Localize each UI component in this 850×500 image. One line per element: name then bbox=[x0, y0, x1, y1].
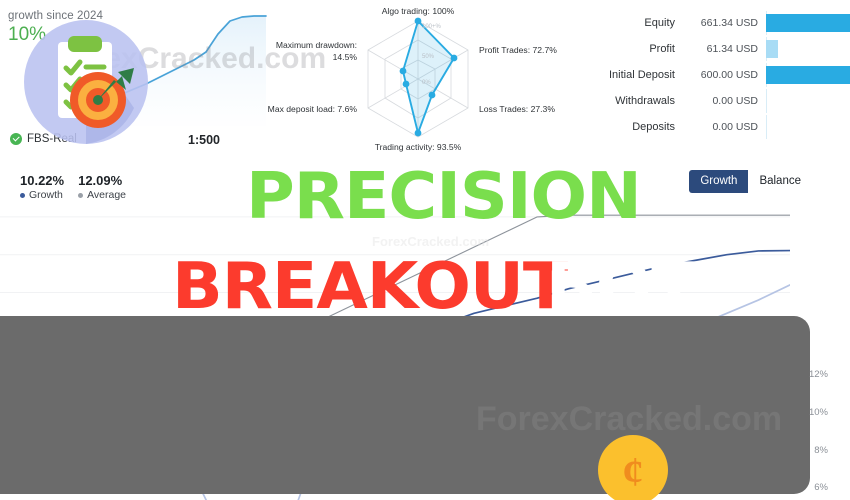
title-overlay-panel bbox=[0, 316, 810, 494]
stat-value-equity: 661.34 USD bbox=[686, 17, 766, 29]
radar-ring-label-2: 0% bbox=[422, 80, 431, 86]
tab-growth[interactable]: Growth bbox=[689, 170, 748, 193]
growth-since-value: 10% bbox=[8, 24, 103, 46]
growth-chart-section: 10.22% Growth 12.09% Average Growth Bala… bbox=[0, 158, 850, 500]
chart-mode-tabs: Growth Balance bbox=[689, 170, 812, 193]
legend-text-growth: Growth bbox=[29, 189, 63, 201]
table-row: Withdrawals 0.00 USD bbox=[590, 88, 845, 114]
growth-since-block: growth since 2024 10% bbox=[8, 10, 103, 46]
legend-item-growth[interactable]: 10.22% Growth bbox=[20, 173, 64, 201]
table-row: Equity 661.34 USD bbox=[590, 10, 845, 36]
chart-legend: 10.22% Growth 12.09% Average bbox=[12, 170, 134, 204]
table-row: Profit 61.34 USD bbox=[590, 36, 845, 62]
radar-axis-label-max-deposit-load: Max deposit load: 7.6% bbox=[268, 104, 358, 114]
y-axis-tick: 10% bbox=[809, 407, 828, 418]
stat-name-profit: Profit bbox=[590, 43, 686, 55]
legend-text-average: Average bbox=[87, 189, 126, 201]
radar-ring-label-0: 100+% bbox=[422, 24, 442, 30]
legend-label-average: Average bbox=[78, 189, 126, 201]
account-summary-section: growth since 2024 10% FBS-Real 1:500 bbox=[0, 0, 850, 158]
stat-name-initial-deposit: Initial Deposit bbox=[590, 69, 686, 81]
growth-since-label: growth since 2024 bbox=[8, 10, 103, 22]
stat-bar-initial-deposit bbox=[766, 66, 850, 84]
stat-bar-cell-deposits bbox=[766, 114, 845, 140]
stat-value-withdrawals: 0.00 USD bbox=[686, 95, 766, 107]
tab-balance[interactable]: Balance bbox=[748, 170, 812, 193]
y-axis-tick: 8% bbox=[814, 445, 828, 456]
account-stats-table: Equity 661.34 USD Profit 61.34 USD Initi… bbox=[590, 10, 845, 140]
stat-bar-cell-equity bbox=[766, 10, 845, 36]
stat-bar-equity bbox=[766, 14, 850, 32]
stat-bar-profit bbox=[766, 40, 778, 58]
legend-value-average: 12.09% bbox=[78, 173, 126, 188]
growth-sparkline bbox=[120, 8, 270, 128]
stat-value-initial-deposit: 600.00 USD bbox=[686, 69, 766, 81]
radar-axis-label-profit-trades: Profit Trades: 72.7% bbox=[479, 45, 557, 55]
radar-axis-label-loss-trades: Loss Trades: 27.3% bbox=[479, 104, 555, 114]
legend-value-growth: 10.22% bbox=[20, 173, 64, 188]
stat-value-deposits: 0.00 USD bbox=[686, 121, 766, 133]
broker-name: FBS-Real bbox=[27, 133, 77, 145]
radar-axis-label-max-drawdown-line2: 14.5% bbox=[333, 52, 358, 62]
stat-name-equity: Equity bbox=[590, 17, 686, 29]
stat-name-deposits: Deposits bbox=[590, 121, 686, 133]
broker-row: FBS-Real bbox=[10, 133, 77, 145]
table-row: Initial Deposit 600.00 USD bbox=[590, 62, 845, 88]
radar-ring-label-1: 50% bbox=[422, 54, 435, 60]
y-axis-tick: 6% bbox=[814, 482, 828, 493]
table-row: Deposits 0.00 USD bbox=[590, 114, 845, 140]
stat-bar-cell-profit bbox=[766, 36, 845, 62]
stat-bar-cell-initial-deposit bbox=[766, 62, 845, 88]
radar-axis-label-trading-activity: Trading activity: 93.5% bbox=[375, 142, 462, 152]
radar-axis-label-max-drawdown-line1: Maximum drawdown: bbox=[276, 40, 357, 50]
legend-dot-average bbox=[78, 193, 83, 198]
radar-axis-label-algo-trading: Algo trading: 100% bbox=[382, 6, 455, 16]
stat-value-profit: 61.34 USD bbox=[686, 43, 766, 55]
legend-item-average[interactable]: 12.09% Average bbox=[78, 173, 126, 201]
legend-label-growth: Growth bbox=[20, 189, 64, 201]
screenshot-root: growth since 2024 10% FBS-Real 1:500 bbox=[0, 0, 850, 500]
verified-check-icon bbox=[10, 133, 22, 145]
chart-y-axis: 12%10%8%6%4%2%0%-2%-4%-6% bbox=[792, 356, 850, 500]
leverage-value: 1:500 bbox=[188, 133, 220, 147]
y-axis-tick: 12% bbox=[809, 369, 828, 380]
performance-radar-chart: 100+% 50% 0% Algo trading: 100% Profit T… bbox=[255, 0, 580, 158]
stat-bar-cell-withdrawals bbox=[766, 88, 845, 114]
legend-dot-growth bbox=[20, 193, 25, 198]
stat-name-withdrawals: Withdrawals bbox=[590, 95, 686, 107]
